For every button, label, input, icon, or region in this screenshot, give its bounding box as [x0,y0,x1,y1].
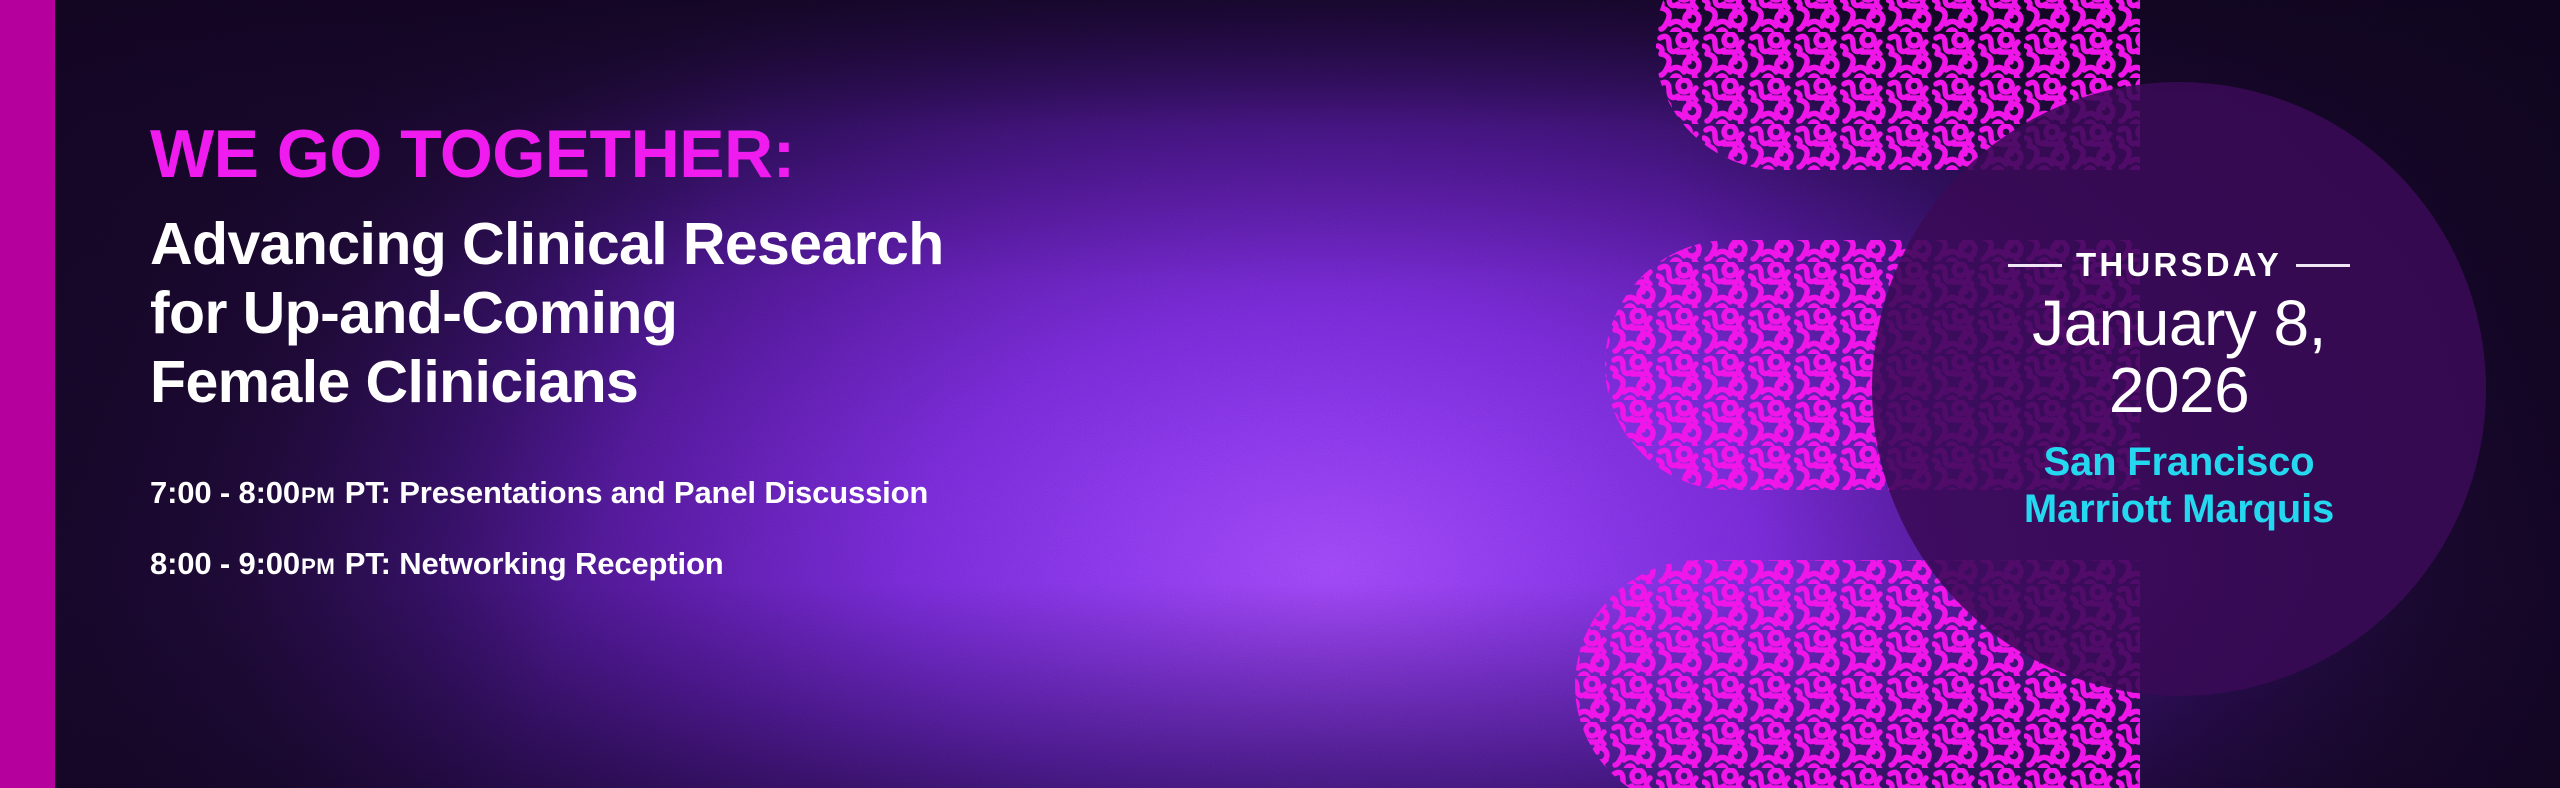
schedule-time-1: 7:00 - 8:00 [150,475,300,510]
venue-line-2: Marriott Marquis [2024,487,2334,531]
headline-line-2: for Up-and-Coming [150,279,1400,348]
schedule-list: 7:00 - 8:00PM PT: Presentations and Pane… [150,475,1400,582]
schedule-time-2: 8:00 - 9:00 [150,546,300,581]
date-badge: THURSDAY January 8, 2026 San Francisco M… [1872,82,2486,696]
weekday-rule-right [2296,264,2350,267]
schedule-detail-2: PT: Networking Reception [345,546,724,581]
event-venue: San Francisco Marriott Marquis [2024,439,2334,532]
headline-line-3: Female Clinicians [150,348,1400,417]
eyebrow-title: WE GO TOGETHER: [150,120,1400,188]
weekday-row: THURSDAY [2008,246,2350,284]
schedule-detail-1: PT: Presentations and Panel Discussion [345,475,928,510]
schedule-meridiem-1: PM [300,483,336,508]
event-date: January 8, 2026 [1979,290,2379,423]
venue-line-1: San Francisco [2044,440,2315,484]
left-accent-stripe [0,0,55,788]
schedule-item: 7:00 - 8:00PM PT: Presentations and Pane… [150,475,1400,511]
weekday-label: THURSDAY [2076,246,2282,284]
schedule-item: 8:00 - 9:00PM PT: Networking Reception [150,546,1400,582]
schedule-meridiem-2: PM [300,554,336,579]
headline-line-1: Advancing Clinical Research [150,210,1400,279]
weekday-rule-left [2008,264,2062,267]
event-banner: THURSDAY January 8, 2026 San Francisco M… [0,0,2560,788]
page-title: Advancing Clinical Research for Up-and-C… [150,210,1400,417]
content-block: WE GO TOGETHER: Advancing Clinical Resea… [150,120,1400,582]
